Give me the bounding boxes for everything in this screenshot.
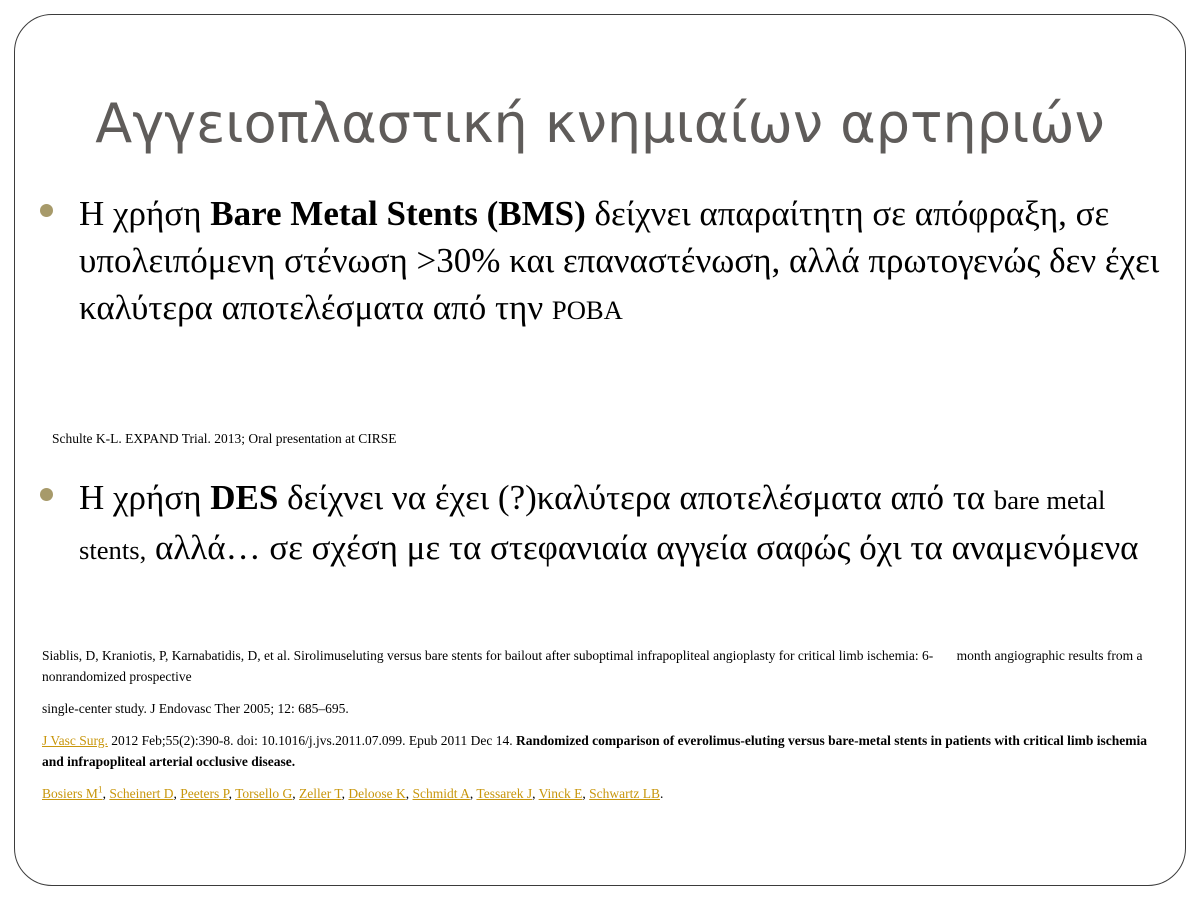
bullet-item-des-text: Η χρήση DES δείχνει να έχει (?)καλύτερα … bbox=[79, 474, 1172, 574]
author-link-9[interactable]: Vinck E bbox=[539, 786, 583, 801]
author-link-6[interactable]: Deloose K bbox=[348, 786, 405, 801]
reference-siablis-line1: Siablis, D, Kraniotis, P, Karnabatidis, … bbox=[42, 648, 933, 663]
des-text-lead: Η χρήση bbox=[79, 478, 210, 517]
reference-siablis-journal: single-center study. J Endovasc Ther 200… bbox=[42, 698, 1172, 719]
bms-text-poba: POBA bbox=[552, 295, 623, 325]
author-link-3[interactable]: Peeters P bbox=[180, 786, 228, 801]
author-link-5[interactable]: Zeller T bbox=[299, 786, 342, 801]
author-link-7[interactable]: Schmidt A bbox=[413, 786, 470, 801]
references-block: Siablis, D, Kraniotis, P, Karnabatidis, … bbox=[42, 645, 1172, 804]
slide-canvas: Αγγειοπλαστική κνημιαίων αρτηριών Η χρήσ… bbox=[0, 0, 1200, 900]
reference-siablis: Siablis, D, Kraniotis, P, Karnabatidis, … bbox=[42, 645, 1172, 687]
author-link-1[interactable]: Bosiers M1 bbox=[42, 786, 103, 801]
bms-text-lead: Η χρήση bbox=[79, 194, 210, 233]
bullet-dot-icon bbox=[40, 488, 53, 501]
citation-schulte: Schulte K-L. EXPAND Trial. 2013; Oral pr… bbox=[52, 429, 952, 448]
author-separator: , bbox=[406, 786, 413, 801]
author-link-2[interactable]: Scheinert D bbox=[109, 786, 173, 801]
slide-content: Αγγειοπλαστική κνημιαίων αρτηριών Η χρήσ… bbox=[0, 0, 1200, 900]
author-separator: . bbox=[660, 786, 663, 801]
reference-author-list: Bosiers M1, Scheinert D, Peeters P, Tors… bbox=[42, 783, 1172, 804]
des-text-tail: αλλά… σε σχέση με τα στεφανιαία αγγεία σ… bbox=[146, 528, 1138, 567]
bullet-item-des: Η χρήση DES δείχνει να έχει (?)καλύτερα … bbox=[32, 474, 1172, 574]
des-text-body: δείχνει να έχει (?)καλύτερα αποτελέσματα… bbox=[278, 478, 994, 517]
author-link-10[interactable]: Schwartz LB bbox=[589, 786, 660, 801]
jvascsurg-detail: 2012 Feb;55(2):390-8. doi: 10.1016/j.jvs… bbox=[108, 733, 516, 748]
author-link-8[interactable]: Tessarek J bbox=[476, 786, 532, 801]
des-text-bold: DES bbox=[210, 478, 278, 517]
jvascsurg-link[interactable]: J Vasc Surg. bbox=[42, 733, 108, 748]
bullet-dot-icon bbox=[40, 204, 53, 217]
reference-jvascsurg: J Vasc Surg. 2012 Feb;55(2):390-8. doi: … bbox=[42, 730, 1172, 772]
author-link-4[interactable]: Torsello G bbox=[235, 786, 292, 801]
page-title: Αγγειοπλαστική κνημιαίων αρτηριών bbox=[60, 92, 1140, 156]
bullet-list-primary: Η χρήση Bare Metal Stents (BMS) δείχνει … bbox=[32, 190, 1172, 334]
bullet-list-secondary: Η χρήση DES δείχνει να έχει (?)καλύτερα … bbox=[32, 474, 1172, 574]
bms-text-bold: Bare Metal Stents (BMS) bbox=[210, 194, 586, 233]
bullet-item-bms: Η χρήση Bare Metal Stents (BMS) δείχνει … bbox=[32, 190, 1172, 334]
bullet-item-bms-text: Η χρήση Bare Metal Stents (BMS) δείχνει … bbox=[79, 190, 1172, 334]
